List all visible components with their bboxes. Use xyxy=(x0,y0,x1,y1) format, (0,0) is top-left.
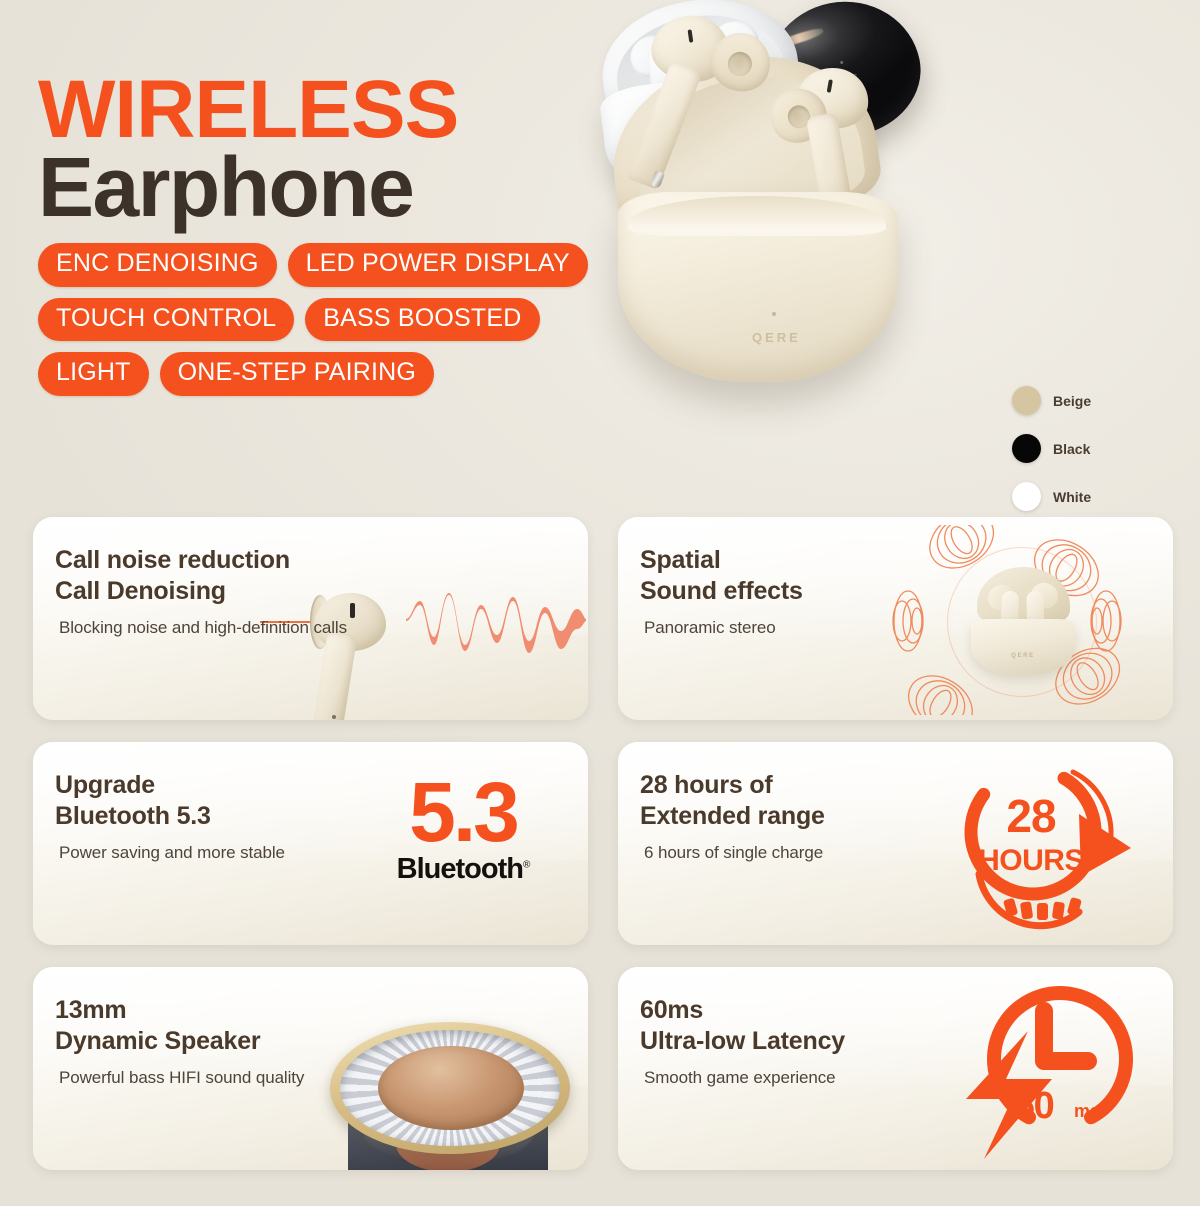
feature-pill-led-power-display: LED POWER DISPLAY xyxy=(288,243,588,287)
card-title-line2: Extended range xyxy=(640,801,825,832)
charging-case-illustration: QERE xyxy=(971,567,1075,675)
feature-card-battery-hours: 28 hours of Extended range 6 hours of si… xyxy=(618,742,1173,945)
card-text-block: Spatial Sound effects Panoramic stereo xyxy=(640,545,803,638)
card-title-line2: Dynamic Speaker xyxy=(55,1026,304,1057)
color-dot-beige-icon xyxy=(1012,386,1041,415)
bluetooth-wordmark: Bluetooth® xyxy=(397,853,530,886)
feature-pill-enc-denoising: ENC DENOISING xyxy=(38,243,277,287)
colorway-black[interactable]: Black xyxy=(1012,434,1091,463)
feature-pill-light: LIGHT xyxy=(38,352,149,396)
colorway-label: Black xyxy=(1053,441,1090,457)
latency-unit: ms xyxy=(1074,1101,1100,1122)
feature-pill-touch-control: TOUCH CONTROL xyxy=(38,298,294,342)
card-title-line2: Ultra-low Latency xyxy=(640,1026,845,1057)
card-title-line1: 28 hours of xyxy=(640,770,825,801)
colorway-label: Beige xyxy=(1053,393,1091,409)
feature-pill-row: ENC DENOISING LED POWER DISPLAY xyxy=(38,243,658,287)
battery-hours-badge: 28 HOURS xyxy=(961,752,1151,937)
earbud-mic-slot xyxy=(350,603,355,618)
feature-card-spatial-sound: Spatial Sound effects Panoramic stereo xyxy=(618,517,1173,720)
speaker-driver-illustration xyxy=(320,1008,580,1170)
card-subtitle: Powerful bass HIFI sound quality xyxy=(59,1068,304,1088)
card-title: 28 hours of Extended range xyxy=(640,770,825,832)
card-title-line1: 60ms xyxy=(640,995,845,1026)
card-title-line1: Spatial xyxy=(640,545,803,576)
card-title: Spatial Sound effects xyxy=(640,545,803,607)
card-subtitle: Blocking noise and high-definition calls xyxy=(59,618,347,638)
speaker-dome xyxy=(378,1046,524,1130)
page-title-line2: Earphone xyxy=(38,145,658,229)
latency-badge: 60 ms xyxy=(956,975,1151,1163)
feature-pill-one-step-pairing: ONE-STEP PAIRING xyxy=(160,352,434,396)
led-indicator xyxy=(772,312,776,316)
card-text-block: 60ms Ultra-low Latency Smooth game exper… xyxy=(640,995,845,1088)
colorway-beige[interactable]: Beige xyxy=(1012,386,1091,415)
led-indicator xyxy=(839,61,843,65)
brand-logo-case: QERE xyxy=(1011,653,1034,659)
hours-number: 28 xyxy=(961,796,1101,837)
earbud-mic-dot xyxy=(332,715,336,719)
color-dot-black-icon xyxy=(1012,434,1041,463)
feature-card-call-denoising: Call noise reduction Call Denoising Bloc… xyxy=(33,517,588,720)
colorway-swatch-list: Beige Black White xyxy=(1012,386,1091,530)
card-subtitle: Power saving and more stable xyxy=(59,843,285,863)
sound-waveform-icon xyxy=(406,579,586,675)
feature-pill-list: ENC DENOISING LED POWER DISPLAY TOUCH CO… xyxy=(38,243,658,396)
bluetooth-version-badge: 5.3 Bluetooth® xyxy=(368,774,558,924)
card-text-block: Call noise reduction Call Denoising Bloc… xyxy=(55,545,347,638)
hours-label: HOURS xyxy=(961,844,1101,878)
card-text-block: 28 hours of Extended range 6 hours of si… xyxy=(640,770,825,863)
feature-card-low-latency: 60ms Ultra-low Latency Smooth game exper… xyxy=(618,967,1173,1170)
registered-mark-icon: ® xyxy=(523,860,529,871)
case-body xyxy=(971,619,1075,675)
card-title: Call noise reduction Call Denoising xyxy=(55,545,347,607)
latency-number: 60 xyxy=(1014,1085,1053,1128)
clock-bolt-icon xyxy=(956,975,1151,1163)
feature-card-grid: Call noise reduction Call Denoising Bloc… xyxy=(33,517,1173,1170)
feature-pill-bass-boosted: BASS BOOSTED xyxy=(305,298,539,342)
card-subtitle: Panoramic stereo xyxy=(644,618,803,638)
colorway-white[interactable]: White xyxy=(1012,482,1091,511)
card-title-line1: 13mm xyxy=(55,995,304,1026)
bluetooth-version-number: 5.3 xyxy=(368,774,558,851)
colorway-label: White xyxy=(1053,489,1091,505)
hero-text-block: WIRELESS Earphone ENC DENOISING LED POWE… xyxy=(38,72,658,407)
spatial-sound-illustration: QERE xyxy=(885,525,1155,715)
page-title-line1: WIRELESS xyxy=(38,72,658,147)
card-text-block: Upgrade Bluetooth 5.3 Power saving and m… xyxy=(55,770,285,863)
card-title: 60ms Ultra-low Latency xyxy=(640,995,845,1057)
card-subtitle: Smooth game experience xyxy=(644,1068,845,1088)
card-subtitle: 6 hours of single charge xyxy=(644,843,825,863)
feature-card-bluetooth: Upgrade Bluetooth 5.3 Power saving and m… xyxy=(33,742,588,945)
color-dot-white-icon xyxy=(1012,482,1041,511)
card-title: 13mm Dynamic Speaker xyxy=(55,995,304,1057)
card-title-line2: Bluetooth 5.3 xyxy=(55,801,285,832)
brand-logo-beige-case: QERE xyxy=(752,330,801,345)
card-text-block: 13mm Dynamic Speaker Powerful bass HIFI … xyxy=(55,995,304,1088)
card-title-line1: Upgrade xyxy=(55,770,285,801)
card-title-line2: Call Denoising xyxy=(55,576,347,607)
feature-pill-row: LIGHT ONE-STEP PAIRING xyxy=(38,352,658,396)
card-title-line2: Sound effects xyxy=(640,576,803,607)
hero-section: WIRELESS Earphone ENC DENOISING LED POWE… xyxy=(0,0,1200,505)
bluetooth-wordmark-text: Bluetooth xyxy=(397,853,523,885)
card-title: Upgrade Bluetooth 5.3 xyxy=(55,770,285,832)
feature-card-dynamic-speaker: 13mm Dynamic Speaker Powerful bass HIFI … xyxy=(33,967,588,1170)
feature-pill-row: TOUCH CONTROL BASS BOOSTED xyxy=(38,298,658,342)
card-title-line1: Call noise reduction xyxy=(55,545,347,576)
hero-product-images: QERE QERE xyxy=(600,0,1200,505)
